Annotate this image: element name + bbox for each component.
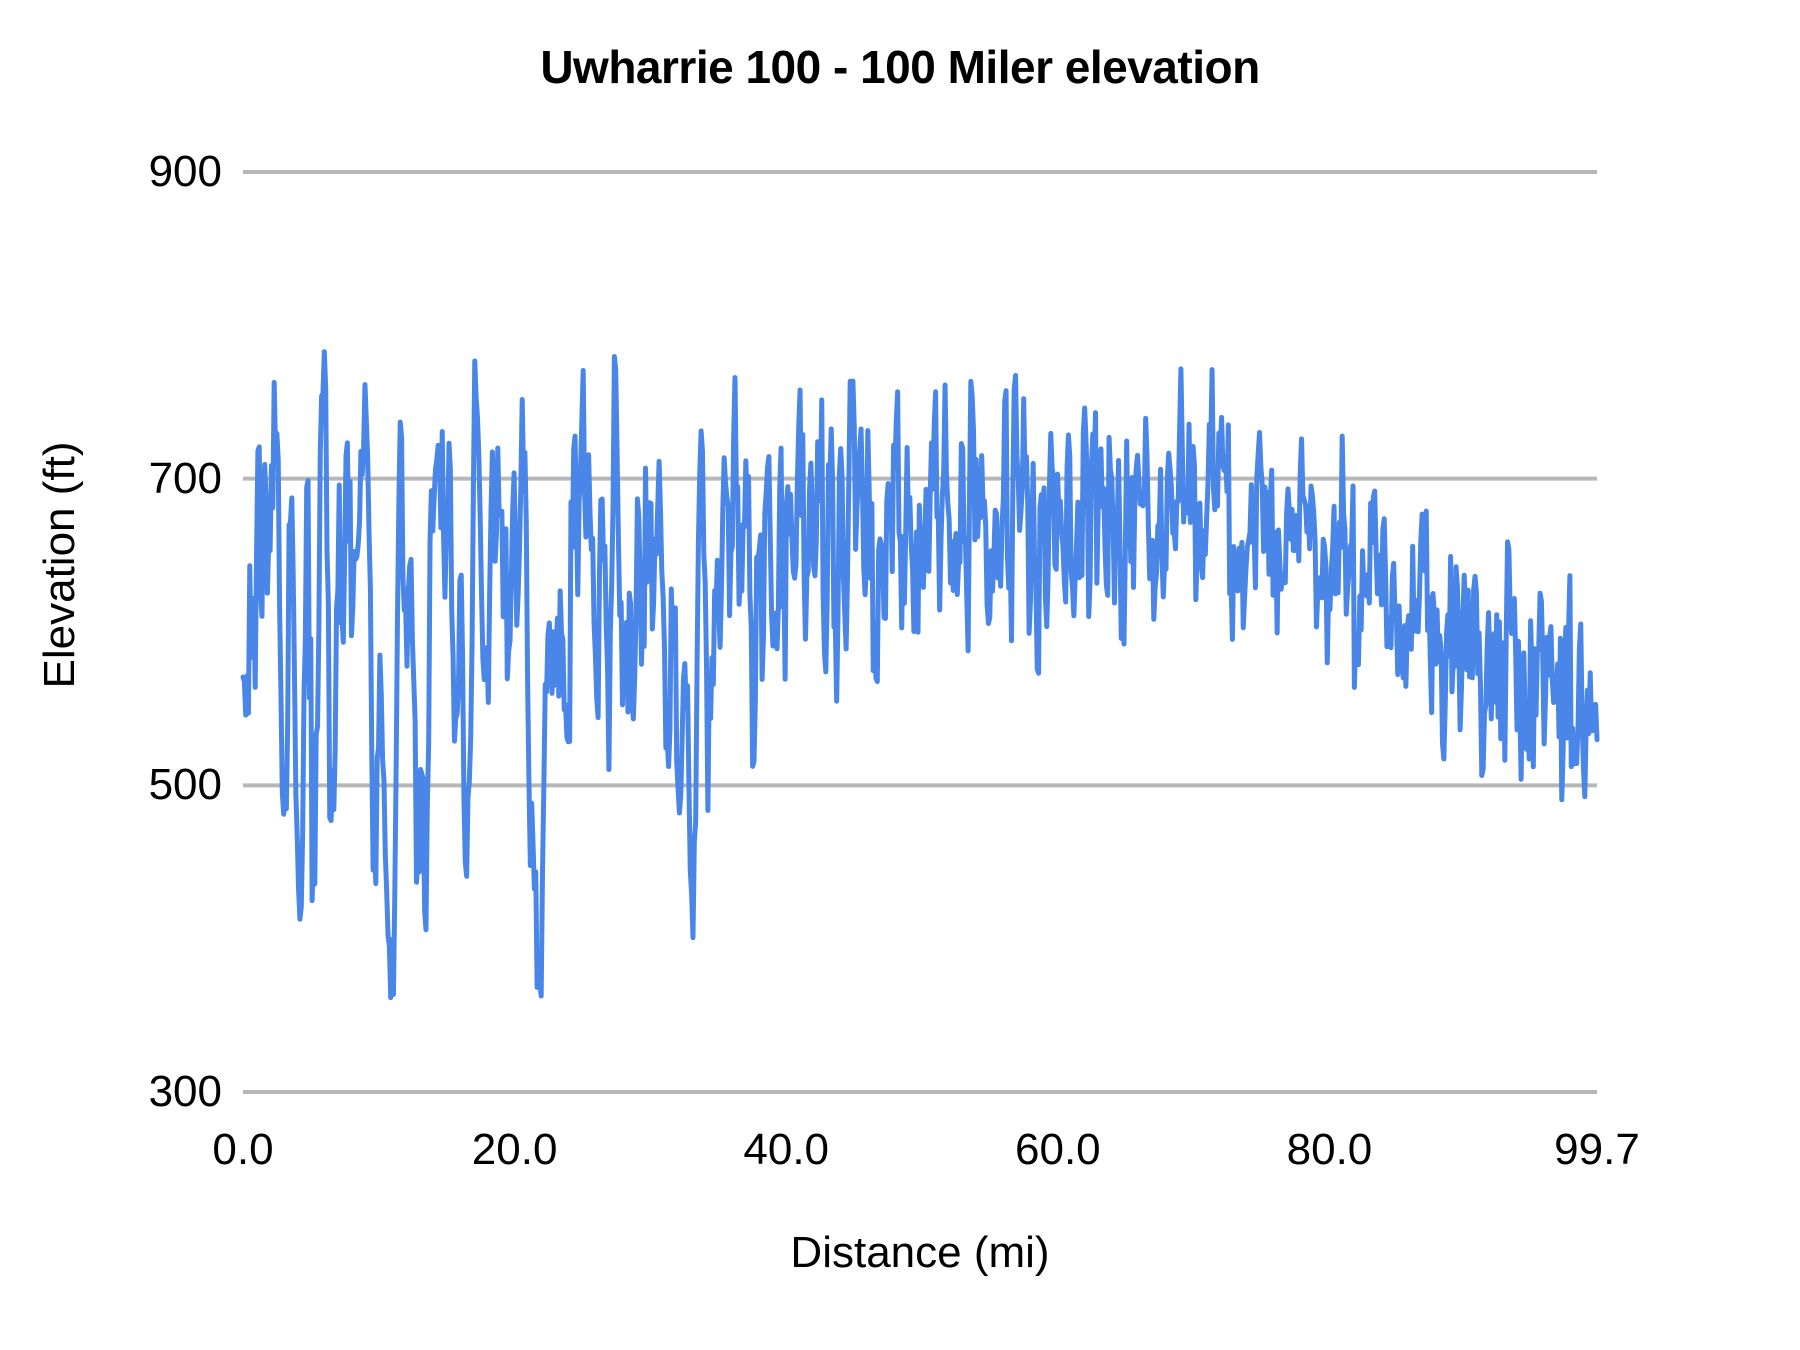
y-tick-label: 900 — [42, 150, 222, 194]
chart-title: Uwharrie 100 - 100 Miler elevation — [0, 40, 1800, 94]
x-tick-label: 40.0 — [686, 1128, 886, 1172]
plot-svg — [243, 160, 1597, 1105]
y-tick-label: 500 — [42, 763, 222, 807]
elevation-line — [243, 352, 1597, 998]
x-axis-tick-labels: 0.020.040.060.080.099.7 — [0, 1128, 1800, 1188]
elevation-chart: Uwharrie 100 - 100 Miler elevation Eleva… — [0, 0, 1800, 1350]
y-tick-label: 300 — [42, 1070, 222, 1114]
x-tick-label: 20.0 — [415, 1128, 615, 1172]
x-tick-label: 60.0 — [958, 1128, 1158, 1172]
plot-area — [243, 160, 1597, 1105]
x-tick-label: 99.7 — [1497, 1128, 1697, 1172]
x-tick-label: 0.0 — [143, 1128, 343, 1172]
x-tick-label: 80.0 — [1229, 1128, 1429, 1172]
y-tick-label: 700 — [42, 457, 222, 501]
x-axis-title: Distance (mi) — [243, 1228, 1597, 1278]
series-group — [243, 352, 1597, 998]
